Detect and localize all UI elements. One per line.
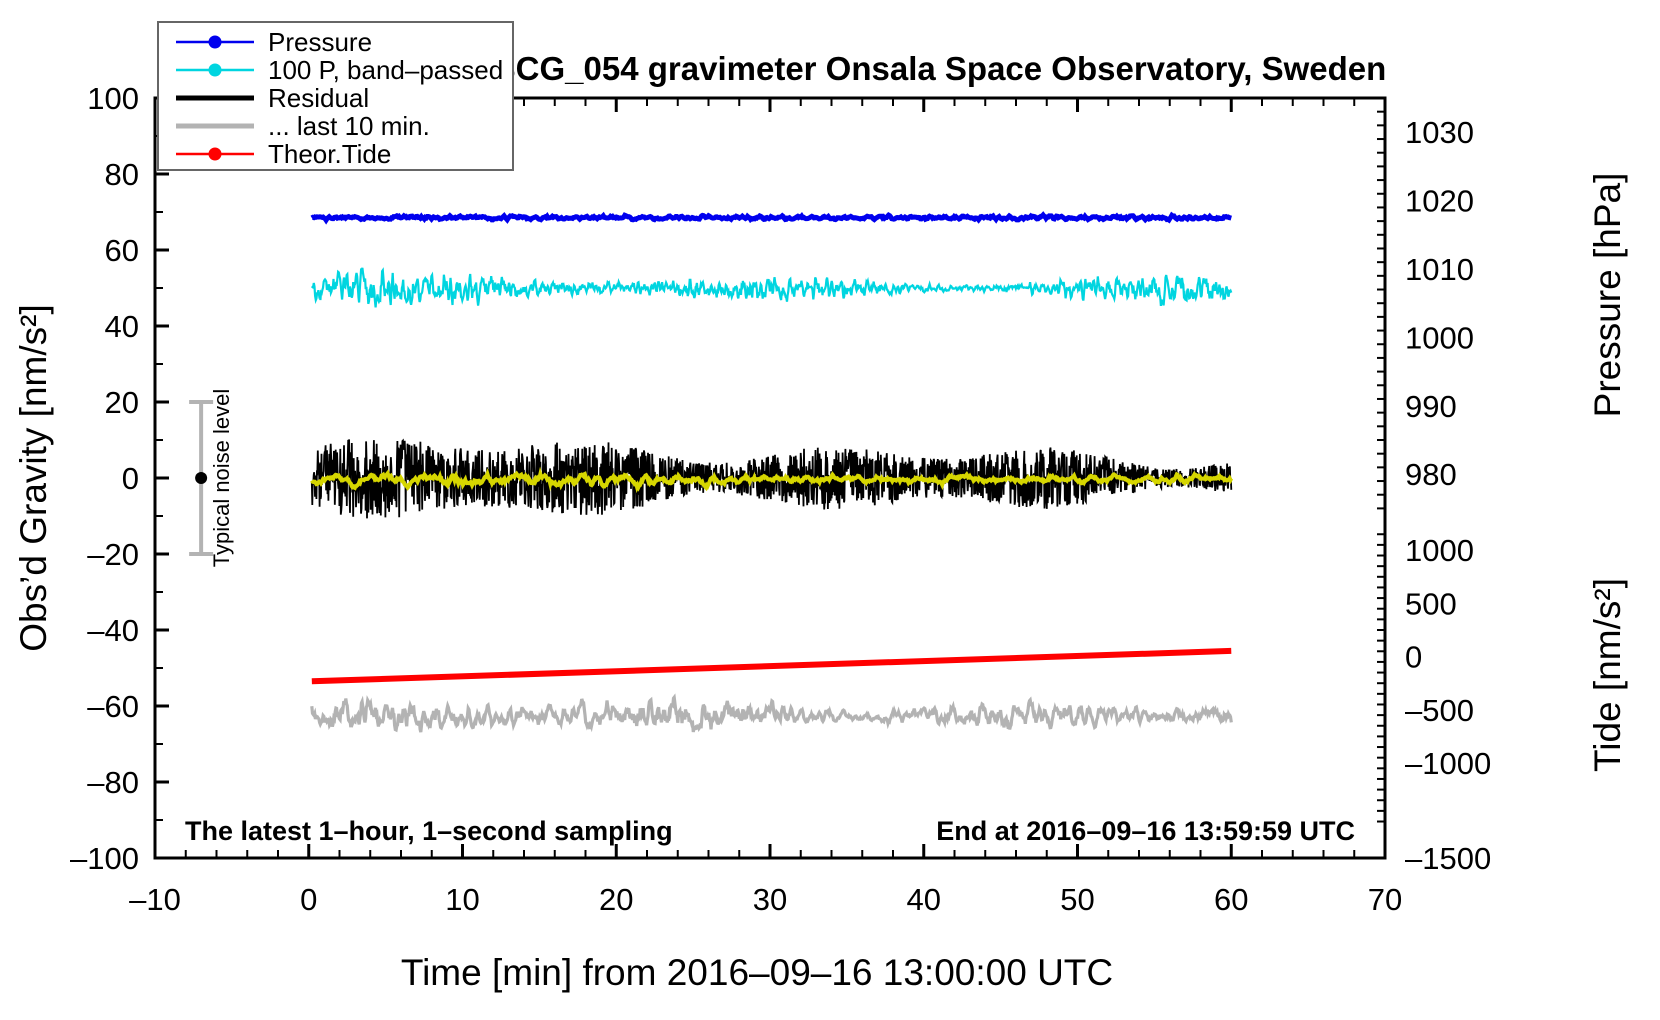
x-tick-label: –10 bbox=[129, 882, 181, 917]
noise-level-label: Typical noise level bbox=[209, 389, 234, 568]
x-tick-label: 70 bbox=[1368, 882, 1402, 917]
page-title: SCG_054 gravimeter Onsala Space Observat… bbox=[494, 50, 1387, 87]
y-tick-label: –100 bbox=[70, 841, 139, 876]
y-tick-label: 40 bbox=[105, 309, 139, 344]
x-tick-label: 60 bbox=[1214, 882, 1248, 917]
y-axis-title: Obs’d Gravity [nm/s²] bbox=[13, 304, 54, 651]
tide-tick-label: 0 bbox=[1405, 640, 1422, 675]
tide-axis-title: Tide [nm/s²] bbox=[1587, 578, 1628, 772]
legend-marker bbox=[209, 148, 222, 161]
y-tick-label: 20 bbox=[105, 385, 139, 420]
legend-label: Theor.Tide bbox=[268, 139, 391, 169]
pressure-axis-title: Pressure [hPa] bbox=[1587, 173, 1628, 418]
pressure-tick-label: 1000 bbox=[1405, 320, 1474, 355]
x-axis-title: Time [min] from 2016–09–16 13:00:00 UTC bbox=[401, 952, 1113, 993]
legend-marker bbox=[209, 64, 222, 77]
x-tick-label: 10 bbox=[445, 882, 479, 917]
annotation-bottom-right: End at 2016–09–16 13:59:59 UTC bbox=[936, 816, 1355, 846]
legend: Pressure100 P, band–passedResidual... la… bbox=[158, 22, 513, 170]
tide-tick-label: –1000 bbox=[1405, 746, 1491, 781]
pressure-tick-label: 980 bbox=[1405, 457, 1457, 492]
legend-label: Pressure bbox=[268, 27, 372, 57]
tide-tick-label: –500 bbox=[1405, 693, 1474, 728]
legend-label: 100 P, band–passed bbox=[268, 55, 503, 85]
tide-tick-label: 500 bbox=[1405, 586, 1457, 621]
legend-marker bbox=[209, 36, 222, 49]
y-tick-label: –60 bbox=[87, 689, 139, 724]
chart-root: –10010203040506070 –100–80–60–40–2002040… bbox=[0, 0, 1660, 1020]
y-tick-label: 60 bbox=[105, 233, 139, 268]
pressure-tick-label: 990 bbox=[1405, 389, 1457, 424]
x-tick-label: 0 bbox=[300, 882, 317, 917]
tide-tick-label: –1500 bbox=[1405, 841, 1491, 876]
y-tick-label: –20 bbox=[87, 537, 139, 572]
pressure-tick-label: 1030 bbox=[1405, 115, 1474, 150]
x-tick-label: 30 bbox=[753, 882, 787, 917]
x-tick-label: 20 bbox=[599, 882, 633, 917]
tide-tick-label: 1000 bbox=[1405, 533, 1474, 568]
pressure-tick-label: 1010 bbox=[1405, 252, 1474, 287]
y-tick-label: 0 bbox=[122, 461, 139, 496]
y-tick-label: –80 bbox=[87, 765, 139, 800]
legend-label: Residual bbox=[268, 83, 369, 113]
pressure-tick-label: 1020 bbox=[1405, 184, 1474, 219]
y-tick-label: –40 bbox=[87, 613, 139, 648]
noise-center-dot bbox=[195, 472, 207, 484]
legend-label: ... last 10 min. bbox=[268, 111, 430, 141]
gravimeter-chart: –10010203040506070 –100–80–60–40–2002040… bbox=[0, 0, 1660, 1020]
x-tick-label: 50 bbox=[1060, 882, 1094, 917]
y-tick-label: 80 bbox=[105, 157, 139, 192]
x-tick-label: 40 bbox=[907, 882, 941, 917]
annotation-bottom-left: The latest 1–hour, 1–second sampling bbox=[185, 816, 673, 846]
y-tick-label: 100 bbox=[87, 81, 139, 116]
